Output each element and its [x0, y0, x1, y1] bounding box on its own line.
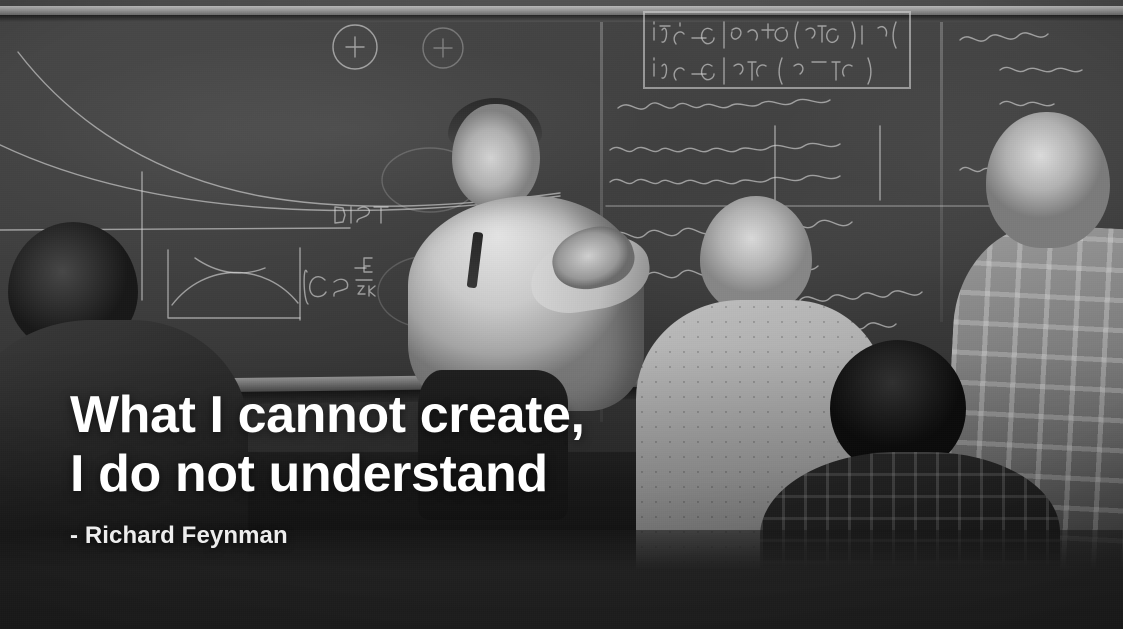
- quote-attribution: - Richard Feynman: [70, 522, 770, 550]
- chalk-boltzmann-formula: [304, 258, 375, 304]
- student-right-head: [986, 112, 1110, 248]
- lecturer-head: [452, 104, 540, 208]
- quote-card: What I cannot create, I do not understan…: [0, 0, 1123, 629]
- quote-line-1: What I cannot create,: [70, 386, 770, 445]
- quote-line-2: I do not understand: [70, 445, 770, 504]
- quote-block: What I cannot create, I do not understan…: [70, 386, 770, 550]
- chalk-boxed-equations: [644, 12, 910, 88]
- student-blonde-head: [700, 196, 812, 314]
- chalk-plot-box: [168, 248, 300, 320]
